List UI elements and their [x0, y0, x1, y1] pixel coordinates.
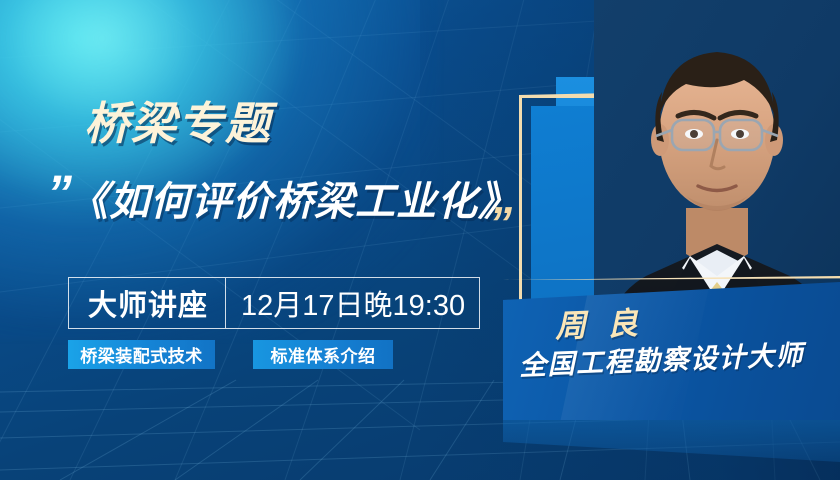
lecture-info-bar: 大师讲座 12月17日晚19:30 [68, 277, 480, 329]
lecture-title: 《如何评价桥梁工业化》 [68, 182, 519, 222]
quote-close-mark: ” [489, 200, 512, 246]
topic-tag: 标准体系介绍 [253, 340, 393, 369]
topic-tag: 桥梁装配式技术 [68, 340, 215, 369]
page-title: 桥梁专题 [84, 101, 272, 146]
lecture-datetime: 12月17日晚19:30 [226, 278, 479, 328]
lecture-series-label: 大师讲座 [69, 278, 225, 328]
lecture-promo-poster: 桥梁专题 ” 《如何评价桥梁工业化》 ” 大师讲座 12月17日晚19:30 桥… [0, 0, 840, 480]
topic-tag-list: 桥梁装配式技术 标准体系介绍 [68, 340, 393, 369]
